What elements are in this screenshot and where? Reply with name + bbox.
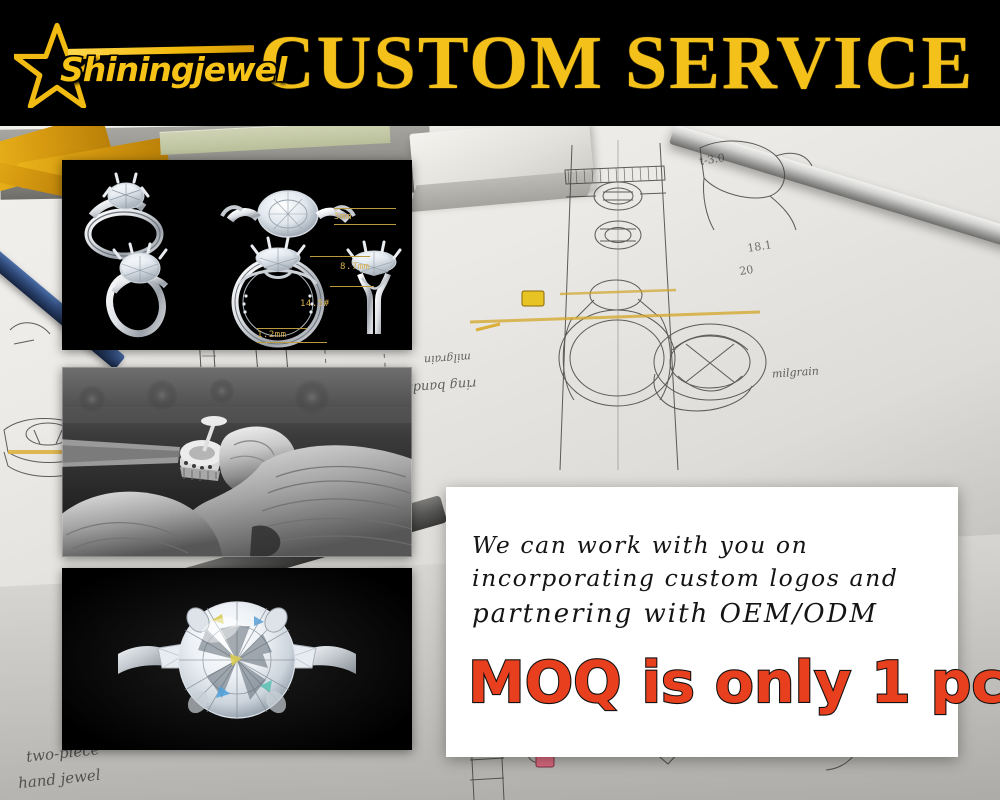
message-box: We can work with you on incorporating cu… <box>446 487 958 757</box>
svg-text:t-3.0: t-3.0 <box>698 151 725 168</box>
message-line-2: incorporating custom logos and <box>472 562 936 595</box>
panel-finished-ring[interactable] <box>62 568 412 750</box>
jeweler-hands-photo <box>62 367 412 557</box>
dim-label-ring-size: 14.5# <box>300 299 330 309</box>
cad-ring-renders <box>62 160 412 350</box>
dim-rule-band-a <box>257 328 307 329</box>
banner-canvas: 18.1 20 t-3.0 two-piece hand jewel milgr… <box>0 0 1000 800</box>
svg-text:18.1: 18.1 <box>746 238 772 255</box>
page-title: CUSTOM SERVICE <box>250 25 1000 101</box>
dim-label-stone-width: 3mm <box>334 212 352 222</box>
message-handwriting: We can work with you on incorporating cu… <box>472 529 936 633</box>
dim-rule-top2 <box>334 224 396 225</box>
message-line-3: partnering with OEM/ODM <box>472 596 936 633</box>
brand-name: Shiningjewel <box>60 50 286 89</box>
panel-cad-render[interactable]: 3mm 8.7mm 14.5# 1.2mm <box>62 160 412 350</box>
dim-label-band-width: 1.2mm <box>257 330 287 340</box>
dim-label-head-height: 8.7mm <box>340 262 370 272</box>
dim-rule-band-b <box>257 342 327 343</box>
brand-logo[interactable]: Shiningjewel <box>0 0 250 126</box>
diamond-ring-photo <box>62 568 412 750</box>
dim-rule-head-a <box>310 256 370 257</box>
message-line-1: We can work with you on <box>472 529 936 562</box>
panel-jeweler-bench[interactable] <box>62 367 412 557</box>
dim-rule-head-b <box>330 286 374 287</box>
header-bar: Shiningjewel CUSTOM SERVICE <box>0 0 1000 126</box>
svg-text:20: 20 <box>738 263 754 278</box>
dim-rule-top <box>334 208 396 209</box>
moq-callout: MOQ is only 1 pcs <box>468 655 938 712</box>
